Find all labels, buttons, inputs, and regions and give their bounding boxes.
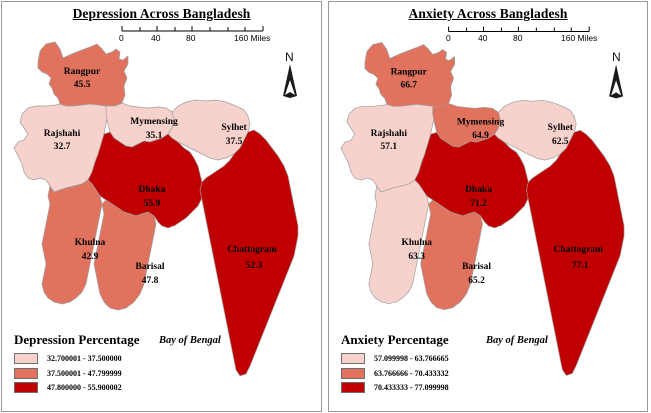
scale-tick-40: 40 [478,33,487,43]
region-label-dhaka: Dhaka [465,185,492,195]
legend-swatch-icon [341,368,365,379]
region-value-barisal: 65.2 [468,276,485,286]
legend-depression: Depression Percentage 32.700001 - 37.500… [14,332,140,396]
scale-tick-80: 80 [513,33,522,43]
region-value-sylhet: 62.5 [552,137,569,147]
scale-tick-160: 160 Miles [561,33,597,43]
legend-swatch-icon [14,368,38,379]
map-panel-anxiety: Anxiety Across Bangladesh Rangpur 66.7 R… [328,1,648,412]
region-value-sylhet: 37.5 [226,137,243,147]
region-value-barisal: 47.8 [142,276,159,286]
region-value-rangpur: 45.5 [74,80,91,90]
legend-label: 32.700001 - 37.500000 [47,354,122,363]
region-label-chattogram: Chattogram [227,245,277,255]
legend-label: 63.766666 - 70.433332 [374,369,449,378]
region-label-mymensing: Mymensing [130,117,178,127]
legend-swatch-icon [341,382,365,393]
region-value-khulna: 42.9 [82,252,99,262]
scale-bar-anxiety [449,27,590,32]
region-value-mymensing: 64.9 [472,131,489,141]
scale-tick-40: 40 [151,33,160,43]
bay-of-bengal-label: Bay of Bengal [159,335,221,346]
legend-swatch-icon [14,353,38,364]
region-value-dhaka: 71.2 [470,199,487,209]
scale-tick-80: 80 [186,33,195,43]
region-label-khulna: Khulna [75,238,106,248]
region-value-rajshahi: 57.1 [381,142,398,152]
region-value-dhaka: 55.9 [144,199,161,209]
north-arrow-label: N [285,50,294,64]
bay-of-bengal-label: Bay of Bengal [486,335,548,346]
legend-row[interactable]: 57.099998 - 63.766665 [341,352,449,365]
legend-row[interactable]: 63.766666 - 70.433332 [341,367,449,380]
region-value-rangpur: 66.7 [400,80,417,90]
legend-row[interactable]: 37.500001 - 47.799999 [14,367,140,380]
legend-label: 70.433333 - 77.099998 [374,383,449,392]
region-value-chattogram: 52.3 [246,261,263,271]
region-label-rangpur: Rangpur [64,67,101,77]
scale-tick-0: 0 [446,33,451,43]
scale-bar-depression [122,26,263,31]
legend-title: Depression Percentage [14,332,140,348]
legend-label: 57.099998 - 63.766665 [374,354,449,363]
scale-tick-0: 0 [119,33,124,43]
region-label-dhaka: Dhaka [139,185,166,195]
region-label-sylhet: Sylhet [221,123,247,133]
legend-anxiety: Anxiety Percentage 57.099998 - 63.766665… [341,332,449,396]
legend-swatch-icon [14,382,38,393]
legend-row[interactable]: 32.700001 - 37.500000 [14,352,140,365]
region-value-rajshahi: 32.7 [54,142,71,152]
region-label-khulna: Khulna [401,238,432,248]
region-label-sylhet: Sylhet [548,123,574,133]
region-value-khulna: 63.3 [408,252,425,262]
region-value-mymensing: 35.1 [146,131,163,141]
legend-row[interactable]: 47.800000 - 55.900002 [14,381,140,394]
north-arrow-icon [609,64,623,98]
region-label-chattogram: Chattogram [553,245,603,255]
legend-swatch-icon [341,353,365,364]
region-label-barisal: Barisal [135,262,164,272]
region-label-rajshahi: Rajshahi [371,129,408,139]
region-label-rangpur: Rangpur [391,67,427,77]
legend-title: Anxiety Percentage [341,332,449,348]
map-regions-depression [14,42,298,376]
north-arrow-icon [283,64,297,98]
region-label-rajshahi: Rajshahi [44,129,81,139]
north-arrow-label: N [612,50,621,64]
legend-row[interactable]: 70.433333 - 77.099998 [341,381,449,394]
figure-root: Depression Across Bangladesh [0,0,651,413]
map-panel-depression: Depression Across Bangladesh [1,1,322,412]
scale-tick-160: 160 Miles [234,33,270,43]
region-value-chattogram: 77.1 [572,261,589,271]
region-label-mymensing: Mymensing [457,117,505,127]
region-label-barisal: Barisal [462,262,491,272]
legend-label: 37.500001 - 47.799999 [47,369,122,378]
legend-label: 47.800000 - 55.900002 [47,383,122,392]
